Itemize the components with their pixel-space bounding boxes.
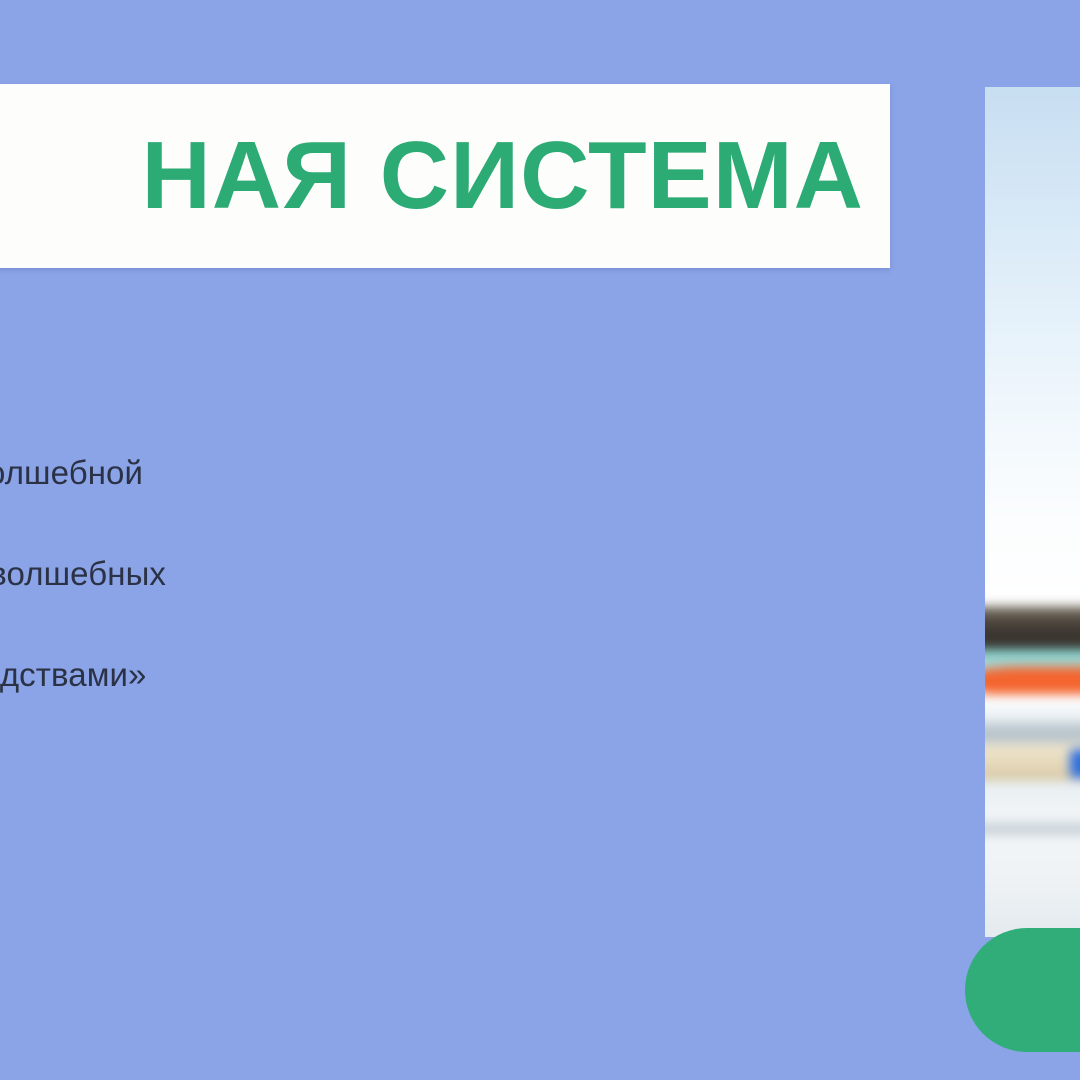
body-line: оственными средствами» bbox=[0, 650, 510, 701]
presentation-slide: НАЯ СИСТЕМА вам название волшебной а. за… bbox=[0, 0, 1080, 1080]
photo-blue-stripe bbox=[1070, 750, 1080, 778]
green-pill-button[interactable] bbox=[965, 928, 1080, 1052]
body-line: а. bbox=[0, 499, 510, 550]
title-card: НАЯ СИСТЕМА bbox=[0, 84, 890, 268]
photo-sky bbox=[985, 87, 1080, 620]
photo-white-hull bbox=[985, 694, 1080, 726]
body-line: нную систему bbox=[0, 600, 510, 651]
body-copy: вам название волшебной а. захочется пить… bbox=[0, 448, 510, 701]
page-title: НАЯ СИСТЕМА bbox=[0, 128, 864, 224]
photo-frame bbox=[985, 87, 1080, 937]
body-line: захочется пить волшебных bbox=[0, 549, 510, 600]
signature-text: оц bbox=[0, 728, 510, 764]
photo-cream-boat bbox=[985, 743, 1080, 783]
body-line: вам название волшебной bbox=[0, 448, 510, 499]
photo-foreground-water bbox=[985, 780, 1080, 937]
harbour-photo bbox=[985, 87, 1080, 937]
photo-grey-band bbox=[985, 725, 1080, 745]
photo-orange-boat bbox=[985, 667, 1080, 698]
photo-water-streak bbox=[985, 823, 1080, 836]
photo-shoreline bbox=[985, 607, 1080, 654]
